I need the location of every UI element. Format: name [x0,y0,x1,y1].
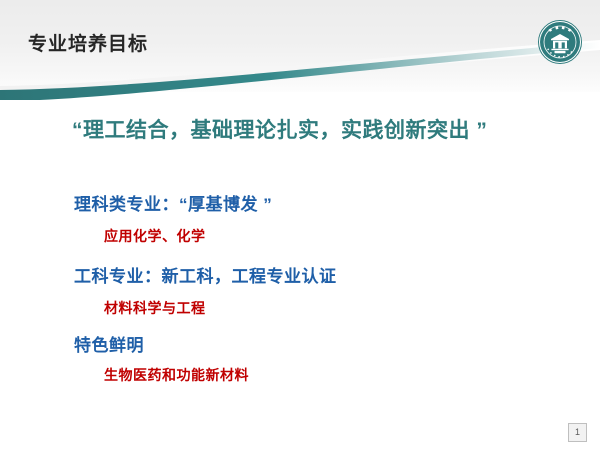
page-title: 专业培养目标 [28,29,148,56]
university-seal-icon [536,18,584,66]
group-detail-science: 应用化学、化学 [104,226,206,246]
group-detail-engineering: 材料科学与工程 [104,298,206,318]
group-detail-features: 生物医药和功能新材料 [104,365,249,385]
group-heading-engineering: 工科专业：新工科，工程专业认证 [74,262,337,287]
slide-canvas: 专业培养目标 “理工结合，基础理论扎实，实践 [0,0,600,450]
headline-quote: “理工结合，基础理论扎实，实践创新突出 ” [72,114,487,144]
group-heading-science: 理科类专业：“厚基博发 ” [74,190,272,215]
group-heading-features: 特色鲜明 [74,331,144,356]
page-number-badge: 1 [568,423,587,442]
